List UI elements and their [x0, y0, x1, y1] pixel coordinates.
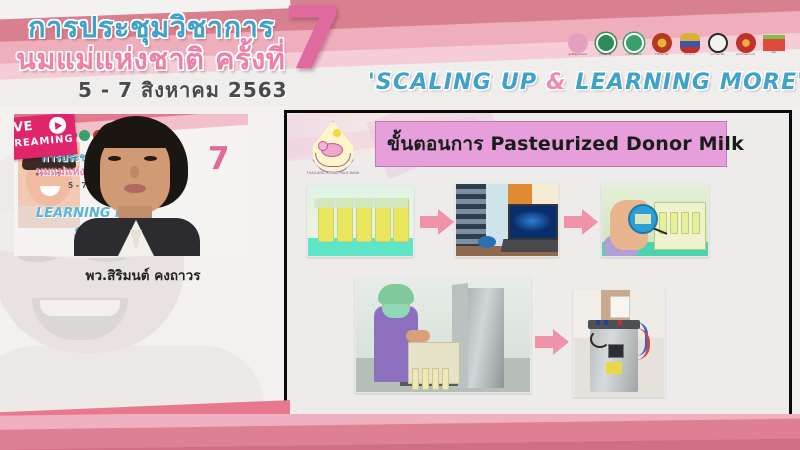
p5-power-cord — [590, 330, 610, 348]
p3-bottle-4 — [692, 212, 700, 234]
p5-knob-2 — [604, 320, 608, 325]
tagline-part-2: LEARNING MORE' — [567, 70, 800, 95]
sponsor-logo-3: ราชวิทยาลัย — [650, 31, 673, 60]
p3-bottle-2 — [670, 212, 678, 234]
p4-bottle-4 — [442, 368, 449, 390]
milk-bottle-racks-photo — [307, 185, 414, 257]
p5-warning-label — [606, 362, 622, 374]
p2-mouse — [478, 236, 496, 248]
p2-laptop-keyboard — [501, 239, 559, 252]
tagline-ampersand: & — [546, 70, 566, 95]
ministry-of-public-health-logo-icon — [596, 33, 616, 53]
laptop-record-station-photo — [455, 183, 559, 257]
footer-pink-bands — [0, 414, 800, 450]
process-arrow-1 — [420, 209, 454, 235]
logo-caption-5: มหาวิทยาลัย — [710, 54, 724, 57]
milk-droplet-highlight-icon — [333, 129, 341, 137]
sponsor-logo-2: กรมการแพทย์ — [622, 31, 645, 60]
p1-shelf-top — [314, 198, 408, 208]
slide-title-bar: ขั้นตอนการ Pasteurized Donor Milk — [375, 121, 727, 167]
logo-caption-6: สภาการพยาบาล — [736, 54, 755, 57]
p4-nurse-arm — [406, 330, 430, 342]
thaihealth-sss-logo-icon: สสส — [763, 35, 785, 51]
department-of-health-logo-icon — [624, 33, 644, 53]
sponsor-logo-7: สสส สสส — [762, 31, 785, 60]
conference-header-banner: การประชุมวิชาการ นมแม่แห่งชาติ ครั้งที่ … — [0, 0, 800, 106]
p5-knob-3 — [618, 320, 622, 325]
sponsor-logos-row: มูลนิธิศูนย์นมแม่ กรมอนามัย กรมการแพทย์ … — [566, 28, 792, 62]
p3-bottle-3 — [681, 212, 689, 234]
process-arrow-3 — [535, 329, 569, 355]
arrow-1-body — [420, 216, 440, 228]
nursing-council-logo-icon — [736, 33, 756, 53]
arrow-2-body — [564, 216, 584, 228]
sponsor-logo-6: สภาการพยาบาล — [734, 31, 757, 60]
speaker-eye-right — [144, 156, 157, 161]
speaker-name-caption: พว.สิริมนต์ คงถาวร — [18, 264, 268, 286]
arrow-3-body — [535, 336, 555, 348]
royal-college-logo-icon — [652, 33, 672, 53]
sponsor-logo-1: กรมอนามัย — [594, 31, 617, 60]
arrow-2-head — [582, 209, 598, 235]
arrow-3-head — [553, 329, 569, 355]
timer-thermometer-photo — [601, 183, 709, 257]
speaker-mouth — [124, 184, 146, 193]
university-seal-logo-icon — [708, 33, 728, 53]
speaker-eye-left — [108, 156, 121, 161]
p5-control-panel — [608, 344, 624, 358]
p4-nurse-face-mask — [382, 304, 410, 318]
conference-edition-number: 7 — [283, 0, 343, 82]
speaker-panel: การประชุมวิชาการ นมแม่แห่งชาติ ครั้งที่ … — [0, 106, 284, 450]
baby-head-icon — [318, 141, 328, 151]
royal-emblem-logo-icon — [680, 33, 700, 53]
logo-caption-0: มูลนิธิศูนย์นมแม่ — [568, 54, 586, 57]
watermark-teeth — [40, 300, 120, 316]
conference-tagline: 'SCALING UP & LEARNING MORE' — [368, 70, 800, 95]
play-icon — [48, 116, 66, 134]
sponsor-logo-4: กระทรวง — [678, 31, 701, 60]
speaker-bangs — [96, 122, 174, 148]
p4-bottle-2 — [422, 368, 429, 390]
human-milk-bank-logo-caption: THAILAND HUMAN MILK BANK — [303, 171, 363, 175]
poster-edition-number: 7 — [208, 144, 230, 175]
process-arrow-2 — [564, 209, 598, 235]
logo-caption-1: กรมอนามัย — [599, 54, 612, 57]
live-badge-top-text: VE — [14, 119, 34, 136]
speaker-nose — [130, 166, 139, 178]
speaker-figure — [70, 114, 200, 256]
logo-caption-7: สสส — [771, 52, 776, 55]
tagline-part-1: 'SCALING UP — [368, 70, 546, 95]
presentation-slide[interactable]: THAILAND HUMAN MILK BANK ขั้นตอนการ Past… — [284, 110, 792, 430]
pasteurizer-machine-photo — [573, 289, 665, 397]
nurse-loading-pasteurizer-photo — [355, 277, 531, 393]
p2-laptop-display-glow — [512, 210, 552, 232]
arrow-1-head — [438, 209, 454, 235]
live-webcam-feed[interactable]: การประชุมวิชาการ นมแม่แห่งชาติ ครั้งที่ … — [14, 114, 248, 256]
p4-nurse-surgical-cap — [378, 284, 414, 304]
p5-wall-sign — [610, 296, 630, 318]
thai-breastfeeding-foundation-logo-icon — [568, 33, 588, 53]
presentation-stage: การประชุมวิชาการ นมแม่แห่งชาติ ครั้งที่ … — [0, 0, 800, 450]
live-badge-bottom-text: TREAMING — [14, 133, 74, 150]
p3-timer-display — [635, 214, 651, 224]
live-streaming-badge: VE TREAMING — [14, 114, 78, 162]
logo-caption-3: ราชวิทยาลัย — [655, 54, 669, 57]
p4-bottle-3 — [432, 368, 439, 390]
slide-title: ขั้นตอนการ Pasteurized Donor Milk — [376, 129, 744, 159]
conference-date: 5 - 7 สิงหาคม 2563 — [78, 74, 288, 106]
p5-knob-1 — [596, 320, 600, 325]
logo-caption-2: กรมการแพทย์ — [626, 54, 642, 57]
logo-caption-4: กระทรวง — [684, 54, 694, 57]
slide-canvas: THAILAND HUMAN MILK BANK ขั้นตอนการ Past… — [287, 113, 789, 427]
sponsor-logo-0: มูลนิธิศูนย์นมแม่ — [566, 31, 589, 60]
p4-bottle-1 — [412, 368, 419, 390]
human-milk-bank-logo: THAILAND HUMAN MILK BANK — [303, 119, 363, 181]
sponsor-logo-5: มหาวิทยาลัย — [706, 31, 729, 60]
